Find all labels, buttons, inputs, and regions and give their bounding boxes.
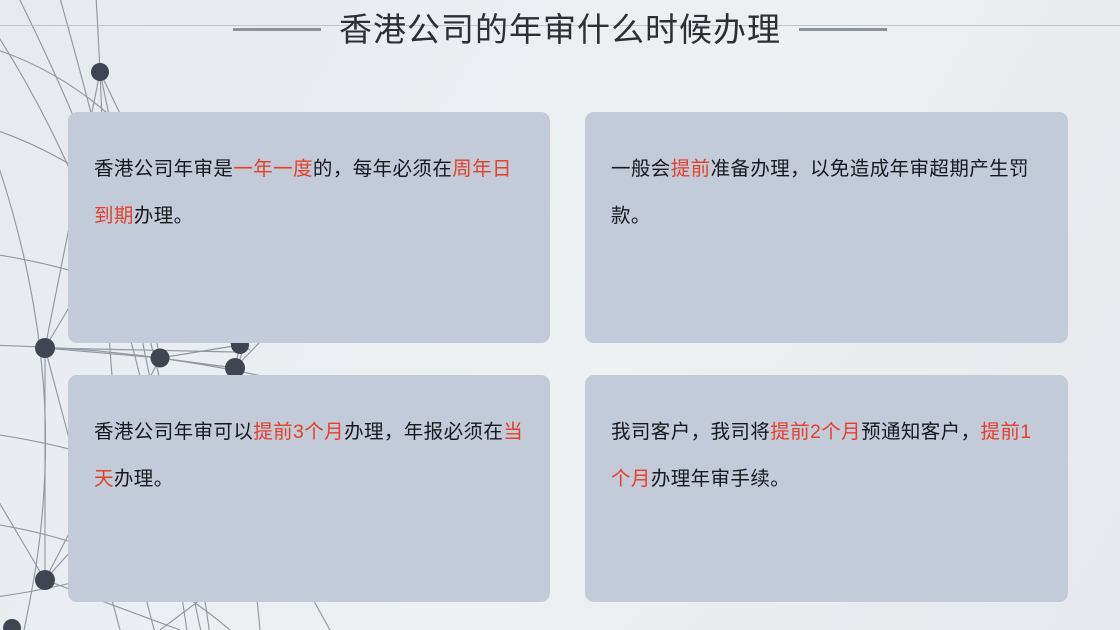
title-left-rule [233, 28, 321, 31]
highlighted-text: 提前 [671, 158, 711, 180]
content-card: 香港公司年审可以提前3个月办理，年报必须在当天办理。 [68, 375, 550, 602]
highlighted-text: 提前3个月 [253, 421, 344, 443]
card-text: 我司客户，我司将提前2个月预通知客户，提前1个月办理年审手续。 [611, 409, 1042, 503]
card-text: 香港公司年审是一年一度的，每年必须在周年日到期办理。 [94, 146, 524, 240]
plain-text: 一般会 [611, 158, 671, 180]
highlighted-text: 一年一度 [233, 158, 313, 180]
plain-text: 预通知客户， [861, 421, 980, 443]
highlighted-text: 提前2个月 [770, 421, 861, 443]
content-card: 我司客户，我司将提前2个月预通知客户，提前1个月办理年审手续。 [585, 375, 1068, 602]
plain-text: 的，每年必须在 [313, 158, 452, 180]
plain-text: 香港公司年审是 [94, 158, 233, 180]
plain-text: 香港公司年审可以 [94, 421, 253, 443]
page-title: 香港公司的年审什么时候办理 [339, 13, 781, 46]
card-text: 香港公司年审可以提前3个月办理，年报必须在当天办理。 [94, 409, 524, 503]
slide-canvas: 香港公司的年审什么时候办理 香港公司年审是一年一度的，每年必须在周年日到期办理。… [0, 0, 1120, 630]
title-right-rule [799, 28, 887, 31]
title-row: 香港公司的年审什么时候办理 [0, 0, 1120, 58]
plain-text: 办理，年报必须在 [344, 421, 503, 443]
plain-text: 办理。 [134, 205, 194, 227]
content-card: 香港公司年审是一年一度的，每年必须在周年日到期办理。 [68, 112, 550, 343]
content-card: 一般会提前准备办理，以免造成年审超期产生罚款。 [585, 112, 1068, 343]
card-text: 一般会提前准备办理，以免造成年审超期产生罚款。 [611, 146, 1042, 240]
plain-text: 我司客户，我司将 [611, 421, 770, 443]
plain-text: 办理。 [114, 468, 174, 490]
plain-text: 办理年审手续。 [651, 468, 790, 490]
